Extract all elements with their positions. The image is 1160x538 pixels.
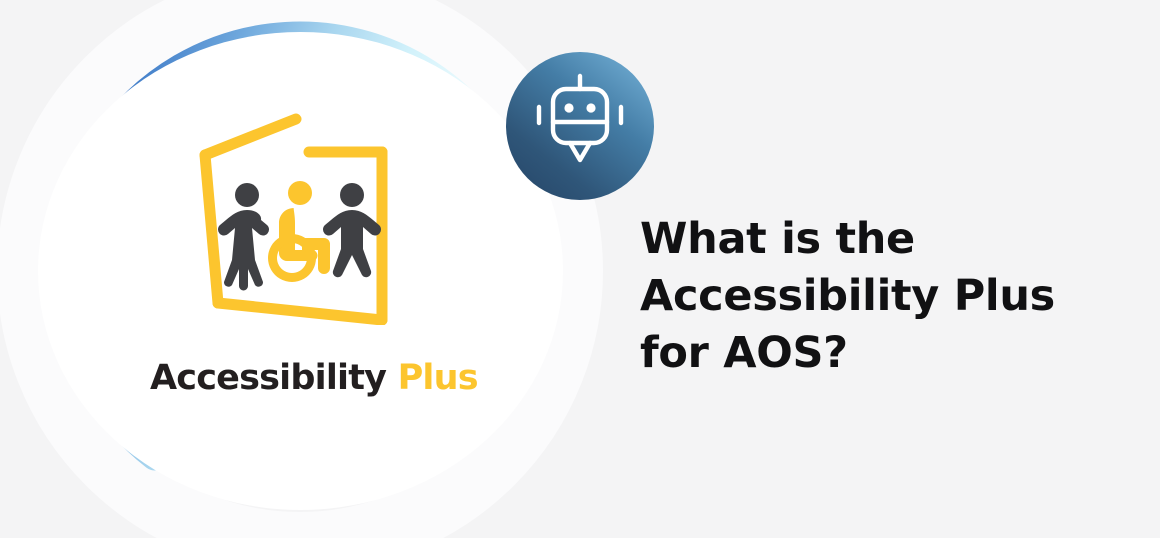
page-title-line-1: What is the — [640, 211, 1110, 268]
robot-eye-right — [586, 103, 595, 112]
page-title-line-2: Accessibility Plus — [640, 268, 1110, 325]
robot-head — [553, 89, 607, 143]
brand-wordmark: Accessibility Plus — [150, 352, 530, 404]
logo-frame-left-top — [205, 119, 296, 155]
brand-block: Accessibility Plus — [150, 110, 530, 410]
page-title-line-3: for AOS? — [640, 325, 1110, 382]
figure-woman-standing — [218, 183, 269, 291]
logo-frame-bottom — [218, 303, 382, 320]
robot-eye-left — [564, 103, 573, 112]
brand-wordmark-primary: Accessibility — [150, 358, 386, 398]
robot-avatar-badge[interactable] — [506, 52, 654, 200]
robot-icon — [506, 52, 654, 200]
page-title: What is the Accessibility Plus for AOS? — [640, 211, 1110, 382]
robot-speech-tail — [570, 143, 590, 160]
figure-man-standing — [323, 183, 381, 277]
brand-wordmark-accent: Plus — [398, 358, 478, 398]
slide-canvas: Accessibility Plus — [0, 0, 1160, 538]
accessibility-plus-logo-icon — [196, 110, 426, 325]
logo-frame-left-side — [205, 155, 218, 303]
figure-wheelchair-user — [268, 181, 330, 282]
